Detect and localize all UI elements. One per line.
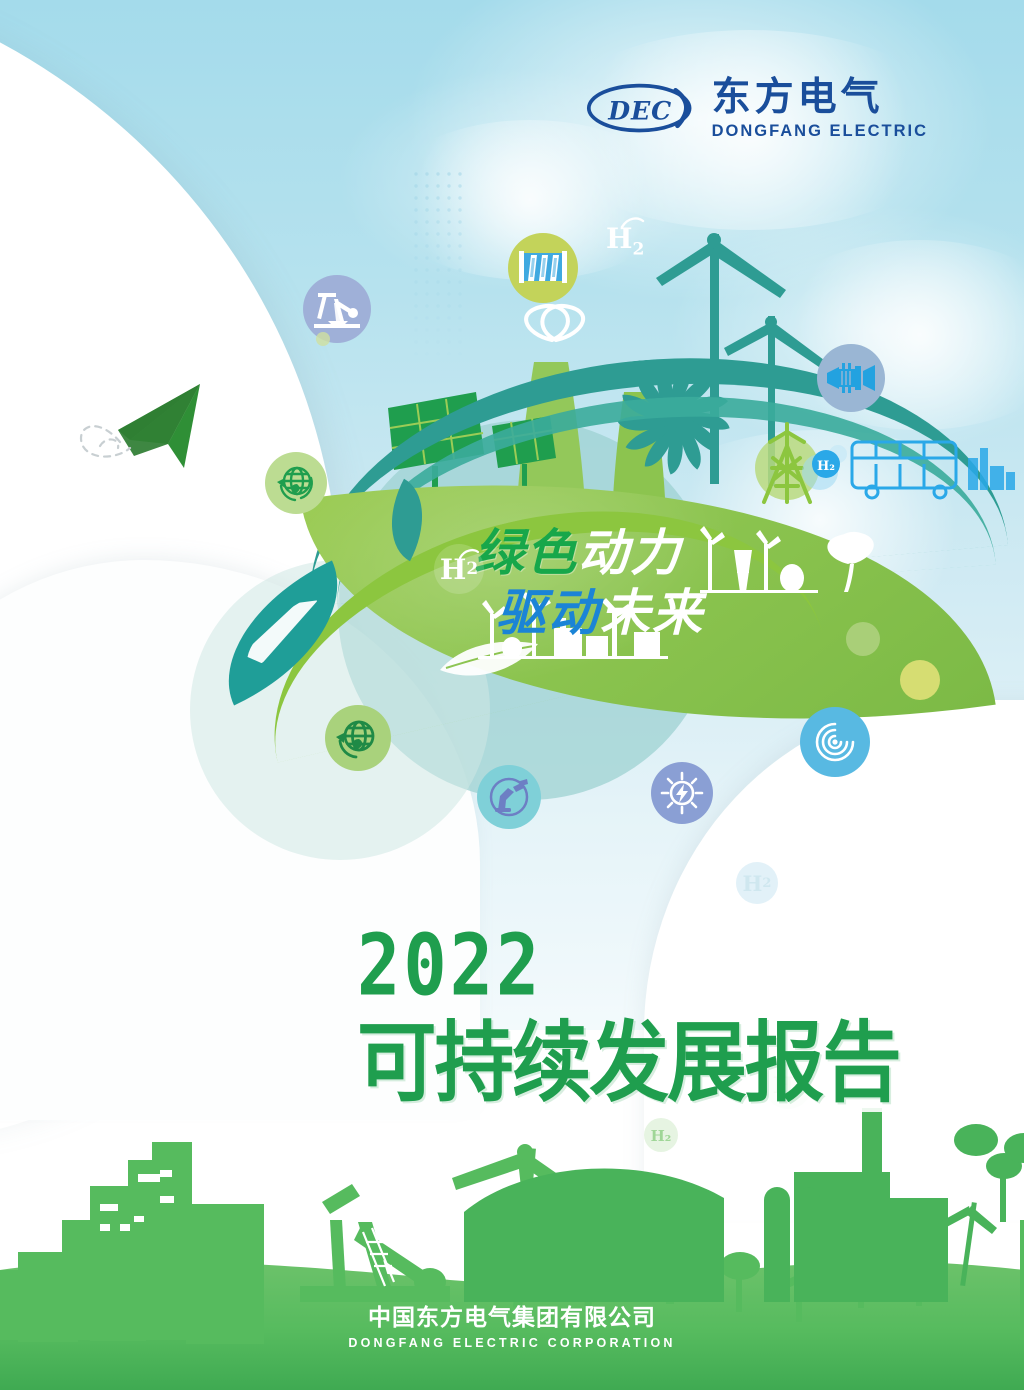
dam-glyph: [519, 251, 567, 285]
solar-power-icon[interactable]: [651, 762, 713, 824]
oil-pumpjack-icon[interactable]: [303, 275, 371, 343]
accent-dot: [846, 622, 880, 656]
gas-turbine-icon[interactable]: [817, 344, 885, 412]
paper-plane-icon: [72, 372, 292, 502]
slogan-block: 绿色动力 驱动未来: [474, 527, 944, 639]
robot-arm-icon[interactable]: [477, 765, 541, 829]
hydrogen-bus-icon: H₂: [790, 420, 1020, 510]
footer-company-en: DONGFANG ELECTRIC CORPORATION: [0, 1336, 1024, 1350]
report-title-block: 2022 可持续发展报告: [357, 925, 889, 1098]
sun-bolt-glyph: [659, 770, 705, 816]
globe-eco-icon[interactable]: [325, 705, 391, 771]
h2-badge-leaf: H2: [434, 544, 484, 594]
dotted-texture: [412, 170, 472, 370]
brand-name-en: DONGFANG ELECTRIC: [712, 123, 928, 140]
brand-logo: DEC 东方电气 DONGFANG ELECTRIC: [586, 78, 928, 140]
slogan-blue-text: 驱动: [496, 584, 600, 642]
pumpjack-glyph: [314, 289, 360, 329]
nuclear-spiral-icon[interactable]: [800, 707, 870, 777]
slogan-line-1: 绿色动力: [474, 527, 944, 579]
globe-recycle-glyph: [275, 462, 317, 504]
globe-eco-glyph: [335, 715, 381, 761]
spiral-glyph: [812, 719, 858, 765]
footer-block: 中国东方电气集团有限公司 DONGFANG ELECTRIC CORPORATI…: [0, 1298, 1024, 1350]
report-year: 2022: [357, 925, 889, 1007]
h2-arc-decor: [620, 217, 646, 229]
h2-arc-decor: [458, 548, 480, 560]
brand-name-cn: 东方电气: [712, 78, 928, 117]
report-cover-poster: DEC 东方电气 DONGFANG ELECTRIC: [0, 0, 1024, 1390]
turbine-glyph: [825, 363, 877, 393]
report-title-cn: 可持续发展报告: [357, 1020, 900, 1107]
svg-text:H₂: H₂: [817, 459, 835, 474]
globe-recycle-icon[interactable]: [265, 452, 327, 514]
svg-text:DEC: DEC: [607, 95, 672, 125]
accent-dot: [900, 660, 940, 700]
slogan-green-text: 绿色: [474, 524, 578, 582]
dec-logo-icon: DEC: [586, 81, 698, 137]
footer-company-cn: 中国东方电气集团有限公司: [0, 1298, 1024, 1332]
robot-arm-glyph: [486, 774, 532, 820]
slogan-white-text: 动力: [578, 524, 682, 582]
slogan-white-text-2: 未来: [600, 584, 704, 642]
accent-dot: [316, 332, 330, 346]
h2-label-sky: H2: [606, 225, 644, 259]
hydro-dam-icon[interactable]: [508, 233, 578, 303]
h2-bubble-faint: H2: [736, 862, 778, 904]
